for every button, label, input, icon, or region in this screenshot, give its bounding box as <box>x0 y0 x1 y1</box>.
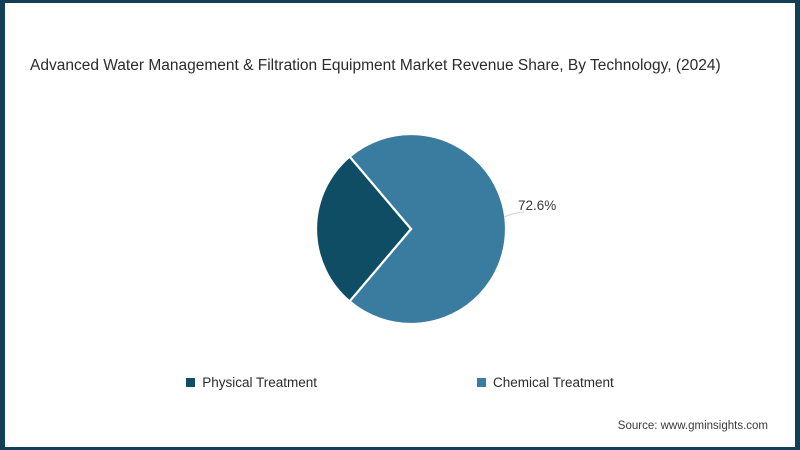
legend-label-physical-treatment: Physical Treatment <box>202 375 317 390</box>
data-label-chemical-treatment: 72.6% <box>518 198 556 213</box>
chart-surface: Advanced Water Management & Filtration E… <box>5 3 795 447</box>
pie-slice-physical-treatment[interactable] <box>316 157 411 302</box>
legend-swatch-icon-chemical-treatment <box>477 378 486 387</box>
legend: Physical Treatment Chemical Treatment <box>5 375 795 390</box>
source-attribution: Source: www.gminsights.com <box>618 420 768 432</box>
legend-swatch-icon-physical-treatment <box>186 378 195 387</box>
legend-item-physical-treatment[interactable]: Physical Treatment <box>186 375 317 390</box>
chart-frame: Advanced Water Management & Filtration E… <box>0 0 800 450</box>
legend-item-chemical-treatment[interactable]: Chemical Treatment <box>477 375 614 390</box>
pie-slice-chemical-treatment[interactable] <box>350 134 507 324</box>
chart-title: Advanced Water Management & Filtration E… <box>30 55 770 77</box>
legend-label-chemical-treatment: Chemical Treatment <box>493 375 614 390</box>
